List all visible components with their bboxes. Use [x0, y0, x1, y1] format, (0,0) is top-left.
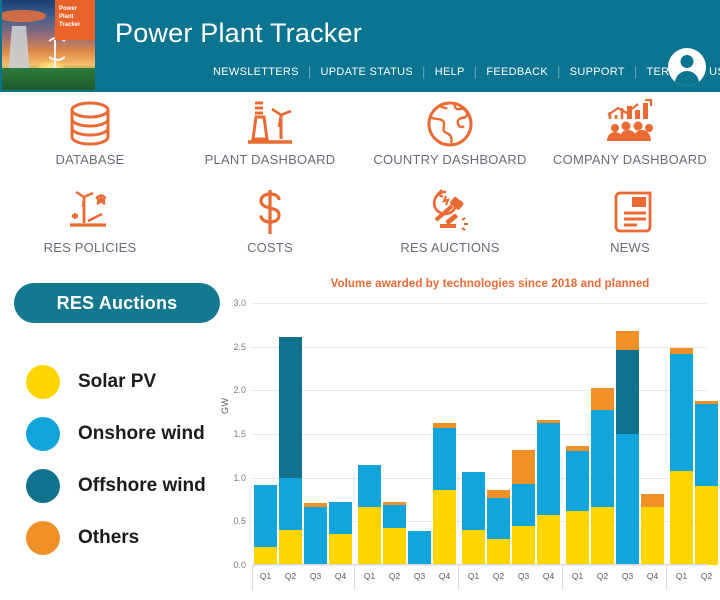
chart-bar[interactable] — [254, 485, 277, 565]
chart-x-tick-label: Q3 — [304, 571, 327, 581]
legend-item-offshore-wind[interactable]: Offshore wind — [26, 460, 206, 512]
chart-bar-segment — [487, 498, 510, 539]
icon-nav-row-2: RES POLICIES COSTS — [0, 186, 720, 274]
dollar-icon — [250, 186, 290, 238]
chart-x-tick-label: Q4 — [641, 571, 664, 581]
chart-bar-segment — [695, 401, 718, 404]
company-chart-people-icon — [602, 98, 658, 150]
chart-bar-segment — [641, 507, 664, 566]
chart-y-tick-label: 0.5 — [233, 516, 246, 526]
chart-y-tick-label: 3.0 — [233, 298, 246, 308]
chart-plot-area: 0.00.51.01.52.02.53.0 — [252, 303, 707, 565]
page-title: Power Plant Tracker — [115, 18, 362, 49]
chart-bar-segment — [566, 511, 589, 565]
chart-x-tick-label: Q2 — [279, 571, 302, 581]
nav-tile-label: COSTS — [247, 240, 293, 255]
icon-nav-row-1: DATABASE PLANT DASHBOARD — [0, 98, 720, 186]
chart-x-group-separator — [458, 566, 459, 590]
chart-x-tick-label: Q1 — [358, 571, 381, 581]
logo-tag-line-2: Plant — [59, 13, 95, 21]
chart-x-tick-label: Q1 — [462, 571, 485, 581]
chart-bar-segment — [537, 420, 560, 423]
chart-x-axis-labels: Q1Q2Q3Q4Q1Q2Q3Q4Q1Q2Q3Q4Q1Q2Q3Q4Q1Q2 — [252, 566, 707, 590]
chart-bar[interactable] — [591, 388, 614, 565]
chart-bar-segment — [616, 434, 639, 565]
chart-bar-segment — [254, 547, 277, 565]
nav-tile-news[interactable]: NEWS — [540, 186, 720, 274]
chart-bar[interactable] — [512, 450, 535, 565]
nav-tile-label: DATABASE — [55, 152, 124, 167]
chart-bar-segment — [462, 472, 485, 531]
chart-x-axis — [252, 564, 707, 565]
chart-x-tick-label: Q4 — [329, 571, 352, 581]
nav-tile-label: PLANT DASHBOARD — [205, 152, 336, 167]
legend-item-solar-pv[interactable]: Solar PV — [26, 356, 206, 408]
chart-x-tick-label: Q2 — [487, 571, 510, 581]
chart-bar[interactable] — [358, 465, 381, 565]
chart-bar-segment — [383, 528, 406, 565]
chart-bar-segment — [383, 505, 406, 529]
renewables-policy-icon — [62, 186, 118, 238]
nav-tile-company-dashboard[interactable]: COMPANY DASHBOARD — [540, 98, 720, 186]
icon-navigation-grid: DATABASE PLANT DASHBOARD — [0, 92, 720, 274]
chart-bar[interactable] — [383, 502, 406, 565]
chart-bar-segment — [304, 507, 327, 566]
chart-bar-segment — [695, 486, 718, 565]
chart-x-group-separator — [252, 566, 253, 590]
chart-bar-segment — [670, 471, 693, 565]
chart-bar-segment — [462, 530, 485, 565]
chart-x-tick-label: Q4 — [537, 571, 560, 581]
nav-link-update-status[interactable]: UPDATE STATUS — [312, 66, 423, 78]
chart-bar-segment — [512, 450, 535, 484]
site-logo-thumbnail[interactable]: Power Plant Tracker — [2, 0, 95, 90]
chart-x-tick-label: Q1 — [566, 571, 589, 581]
legend-color-dot — [26, 521, 60, 555]
legend-item-onshore-wind[interactable]: Onshore wind — [26, 408, 206, 460]
chart-bar[interactable] — [537, 420, 560, 565]
chart-x-tick-label: Q1 — [670, 571, 693, 581]
newspaper-icon — [604, 186, 656, 238]
chart-bar-segment — [487, 490, 510, 498]
globe-icon — [424, 98, 476, 150]
site-header: Power Plant Tracker Power Plant Tracker … — [0, 0, 720, 92]
chart-bar[interactable] — [279, 337, 302, 565]
chart-bar-segment — [433, 423, 456, 428]
chart-bar-segment — [329, 502, 352, 533]
chart-bar-segment — [670, 348, 693, 354]
legend-item-others[interactable]: Others — [26, 512, 206, 564]
nav-link-help[interactable]: HELP — [426, 66, 474, 78]
logo-ground — [2, 68, 95, 90]
chart-bar-segment — [566, 446, 589, 450]
chart-y-axis-label: GW — [220, 398, 230, 415]
legend-color-dot — [26, 417, 60, 451]
chart-x-tick-label: Q1 — [254, 571, 277, 581]
logo-tag: Power Plant Tracker — [55, 0, 95, 40]
legend-color-dot — [26, 469, 60, 503]
chart-bar-segment — [591, 507, 614, 566]
header-nav: NEWSLETTERS | UPDATE STATUS | HELP | FEE… — [213, 64, 720, 79]
chart-x-group-separator — [354, 566, 355, 590]
chart-bar[interactable] — [566, 446, 589, 565]
chart-bar[interactable] — [408, 531, 431, 565]
legend-item-label: Offshore wind — [78, 475, 206, 497]
chart-x-tick-label: Q3 — [408, 571, 431, 581]
chart-bar-segment — [641, 494, 664, 506]
chart-bar-segment — [695, 404, 718, 486]
chart-bar-segment — [433, 428, 456, 490]
chart-bar-segment — [487, 539, 510, 565]
res-auctions-panel: RES Auctions Solar PV Onshore wind Offsh… — [0, 274, 720, 600]
chart-bar-segment — [512, 526, 535, 565]
chart-bar[interactable] — [487, 490, 510, 565]
chart-y-tick-label: 2.5 — [233, 342, 246, 352]
legend-item-label: Solar PV — [78, 371, 156, 393]
chart-y-tick-label: 0.0 — [233, 560, 246, 570]
chart-legend: Solar PV Onshore wind Offshore wind Othe… — [26, 356, 206, 564]
chart-bar-segment — [279, 478, 302, 530]
chart-x-tick-label: Q4 — [433, 571, 456, 581]
chart-bar-segment — [304, 503, 327, 506]
chart-bar-segment — [383, 502, 406, 505]
chart-bar-segment — [408, 531, 431, 565]
chart-bar-segment — [670, 354, 693, 471]
nav-tile-database[interactable]: DATABASE — [0, 98, 180, 186]
chart-y-tick-label: 1.0 — [233, 473, 246, 483]
chart-bar-segment — [433, 490, 456, 565]
chart-x-tick-label: Q3 — [616, 571, 639, 581]
chart-x-tick-label: Q3 — [512, 571, 535, 581]
nav-link-feedback[interactable]: FEEDBACK — [477, 66, 557, 78]
chart-y-tick-label: 1.5 — [233, 429, 246, 439]
volume-awarded-chart: Volume awarded by technologies since 201… — [212, 274, 720, 600]
avatar-head — [681, 55, 694, 68]
nav-tile-res-policies[interactable]: RES POLICIES — [0, 186, 180, 274]
chart-bar-segment — [254, 485, 277, 547]
res-auctions-title-pill[interactable]: RES Auctions — [14, 283, 220, 323]
chart-bar[interactable] — [304, 503, 327, 565]
chart-bar-segment — [616, 350, 639, 434]
chart-bar-segment — [591, 388, 614, 410]
panel-sidebar: RES Auctions Solar PV Onshore wind Offsh… — [0, 274, 212, 600]
chart-bar-segment — [537, 515, 560, 565]
nav-tile-label: COMPANY DASHBOARD — [553, 152, 707, 167]
chart-bar[interactable] — [695, 401, 718, 565]
chart-x-group-separator — [666, 566, 667, 590]
nav-tile-costs[interactable]: COSTS — [180, 186, 360, 274]
chart-x-tick-label: Q2 — [383, 571, 406, 581]
legend-color-dot — [26, 365, 60, 399]
chart-bar[interactable] — [670, 348, 693, 565]
logo-tag-line-1: Power — [59, 5, 95, 13]
chart-bar-segment — [512, 484, 535, 526]
power-plant-icon — [242, 98, 298, 150]
chart-bar-segment — [616, 331, 639, 350]
nav-tile-label: RES AUCTIONS — [400, 240, 499, 255]
nav-tile-label: COUNTRY DASHBOARD — [373, 152, 526, 167]
chart-bar-segment — [279, 530, 302, 565]
chart-x-tick-label: Q2 — [695, 571, 718, 581]
chart-bar[interactable] — [329, 502, 352, 565]
database-icon — [64, 98, 116, 150]
avatar-body — [675, 71, 699, 86]
chart-bar-segment — [358, 465, 381, 506]
chart-bar[interactable] — [616, 331, 639, 565]
nav-tile-label: NEWS — [610, 240, 650, 255]
chart-bar[interactable] — [462, 472, 485, 565]
nav-link-support[interactable]: SUPPORT — [561, 66, 634, 78]
chart-bars — [252, 303, 707, 565]
nav-tile-res-auctions[interactable]: RES AUCTIONS — [360, 186, 540, 274]
chart-bar-segment — [358, 507, 381, 566]
chart-y-tick-label: 2.0 — [233, 385, 246, 395]
chart-bar[interactable] — [641, 494, 664, 565]
chart-bar-segment — [591, 410, 614, 507]
chart-bar-segment — [566, 451, 589, 511]
legend-item-label: Others — [78, 527, 139, 549]
chart-bar-segment — [537, 423, 560, 516]
user-avatar-icon[interactable] — [668, 48, 706, 86]
nav-tile-plant-dashboard[interactable]: PLANT DASHBOARD — [180, 98, 360, 186]
legend-item-label: Onshore wind — [78, 423, 205, 445]
logo-tag-line-3: Tracker — [59, 21, 95, 29]
auction-gavel-icon — [422, 186, 478, 238]
chart-bar[interactable] — [433, 423, 456, 565]
nav-link-newsletters[interactable]: NEWSLETTERS — [213, 66, 308, 78]
chart-title: Volume awarded by technologies since 201… — [270, 278, 710, 290]
nav-tile-country-dashboard[interactable]: COUNTRY DASHBOARD — [360, 98, 540, 186]
nav-tile-label: RES POLICIES — [44, 240, 137, 255]
chart-x-tick-label: Q2 — [591, 571, 614, 581]
chart-bar-segment — [279, 337, 302, 478]
chart-x-group-separator — [562, 566, 563, 590]
chart-bar-segment — [329, 534, 352, 565]
